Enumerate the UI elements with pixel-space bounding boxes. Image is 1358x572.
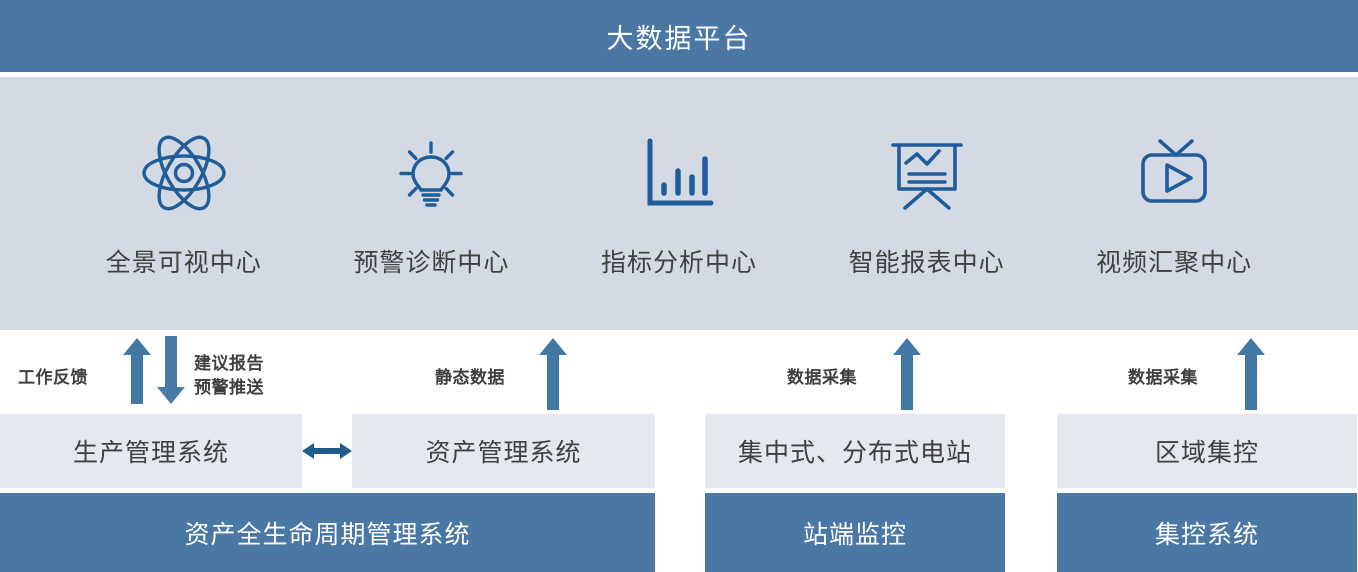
flow-label-data-collect-1: 数据采集 [787, 366, 857, 390]
capability-label: 视频汇聚中心 [1096, 243, 1252, 279]
base-box-control-system[interactable]: 集控系统 [1057, 493, 1357, 572]
system-label: 集中式、分布式电站 [738, 433, 972, 469]
flow-label-report-line1: 建议报告 [194, 352, 264, 376]
flow-band: 工作反馈 建议报告 预警推送 静态数据 数据采集 [0, 330, 1358, 410]
base-box-asset-lifecycle[interactable]: 资产全生命周期管理系统 [0, 493, 655, 572]
flow-label-work-feedback: 工作反馈 [18, 366, 88, 390]
lightbulb-icon [387, 129, 475, 217]
base-label: 资产全生命周期管理系统 [184, 515, 470, 551]
platform-header: 大数据平台 [0, 0, 1358, 72]
arrow-up-icon-work-feedback [122, 338, 152, 409]
flow-label-report-line2: 预警推送 [194, 376, 264, 400]
capability-warning-diagnosis[interactable]: 预警诊断中心 [324, 129, 539, 279]
capability-label: 指标分析中心 [601, 243, 757, 279]
capability-row: 全景可视中心 [0, 77, 1358, 330]
base-label: 站端监控 [803, 515, 907, 551]
presentation-icon [883, 129, 971, 217]
arrow-down-icon-report-push [156, 336, 186, 409]
base-box-station-monitoring[interactable]: 站端监控 [705, 493, 1005, 572]
base-label: 集控系统 [1155, 515, 1259, 551]
arrow-up-icon-data-collect-1 [892, 338, 922, 415]
bidirectional-arrow-icon [302, 440, 352, 462]
capability-label: 全景可视中心 [106, 243, 262, 279]
page-title: 大数据平台 [607, 17, 752, 56]
flow-label-data-collect-2: 数据采集 [1128, 366, 1198, 390]
arrow-up-icon-data-collect-2 [1236, 338, 1266, 415]
system-label: 资产管理系统 [425, 433, 581, 469]
capability-smart-report[interactable]: 智能报表中心 [819, 129, 1034, 279]
system-label: 生产管理系统 [73, 433, 229, 469]
capability-label: 智能报表中心 [849, 243, 1005, 279]
capability-label: 预警诊断中心 [353, 243, 509, 279]
system-box-regional-control[interactable]: 区域集控 [1057, 414, 1357, 488]
arrow-up-icon-static-data [538, 338, 568, 415]
platform-capability-panel: 全景可视中心 [0, 77, 1358, 330]
system-box-production-management[interactable]: 生产管理系统 [0, 414, 302, 488]
atom-icon [140, 129, 228, 217]
architecture-diagram: 大数据平台 全景可视中心 [0, 0, 1358, 572]
flow-label-report-push: 建议报告 预警推送 [194, 352, 264, 400]
capability-panoramic-visualization[interactable]: 全景可视中心 [76, 129, 291, 279]
bar-chart-icon [635, 129, 723, 217]
system-label: 区域集控 [1155, 433, 1259, 469]
system-box-power-stations[interactable]: 集中式、分布式电站 [705, 414, 1005, 488]
capability-video-aggregation[interactable]: 视频汇聚中心 [1067, 129, 1282, 279]
system-box-asset-management[interactable]: 资产管理系统 [352, 414, 655, 488]
capability-metric-analysis[interactable]: 指标分析中心 [571, 129, 786, 279]
video-play-icon [1130, 129, 1218, 217]
flow-label-static-data: 静态数据 [435, 366, 505, 390]
